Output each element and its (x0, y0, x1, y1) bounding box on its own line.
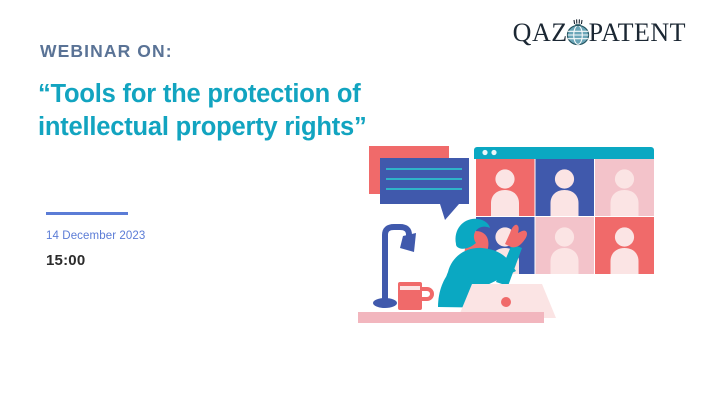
event-time: 15:00 (46, 252, 85, 269)
video-tile-1 (476, 159, 535, 216)
video-tile-6 (595, 217, 654, 274)
coffee-mug-icon (398, 282, 432, 310)
qazpatent-globe-emblem-icon (565, 18, 591, 48)
eyebrow-label: WEBINAR ON: (40, 41, 173, 62)
video-tile-5 (536, 217, 595, 274)
window-dot-1 (482, 150, 487, 155)
qazpatent-logo: QAZ PATENT (513, 16, 686, 50)
laptop-logo-dot (501, 297, 511, 307)
window-dot-2 (491, 150, 496, 155)
event-date: 14 December 2023 (46, 230, 145, 242)
logo-text-qaz: QAZ (513, 20, 568, 46)
logo-text-patent: PATENT (589, 20, 686, 46)
webinar-announcement-slide: QAZ PATENT WEBINAR ON: “Tools for the pr… (0, 0, 720, 400)
desk-surface (358, 312, 544, 323)
title-divider (46, 212, 128, 215)
video-tile-3 (595, 159, 654, 216)
video-tile-2 (536, 159, 595, 216)
chat-bubble-front-icon (380, 158, 469, 220)
video-conference-illustration (344, 132, 684, 332)
